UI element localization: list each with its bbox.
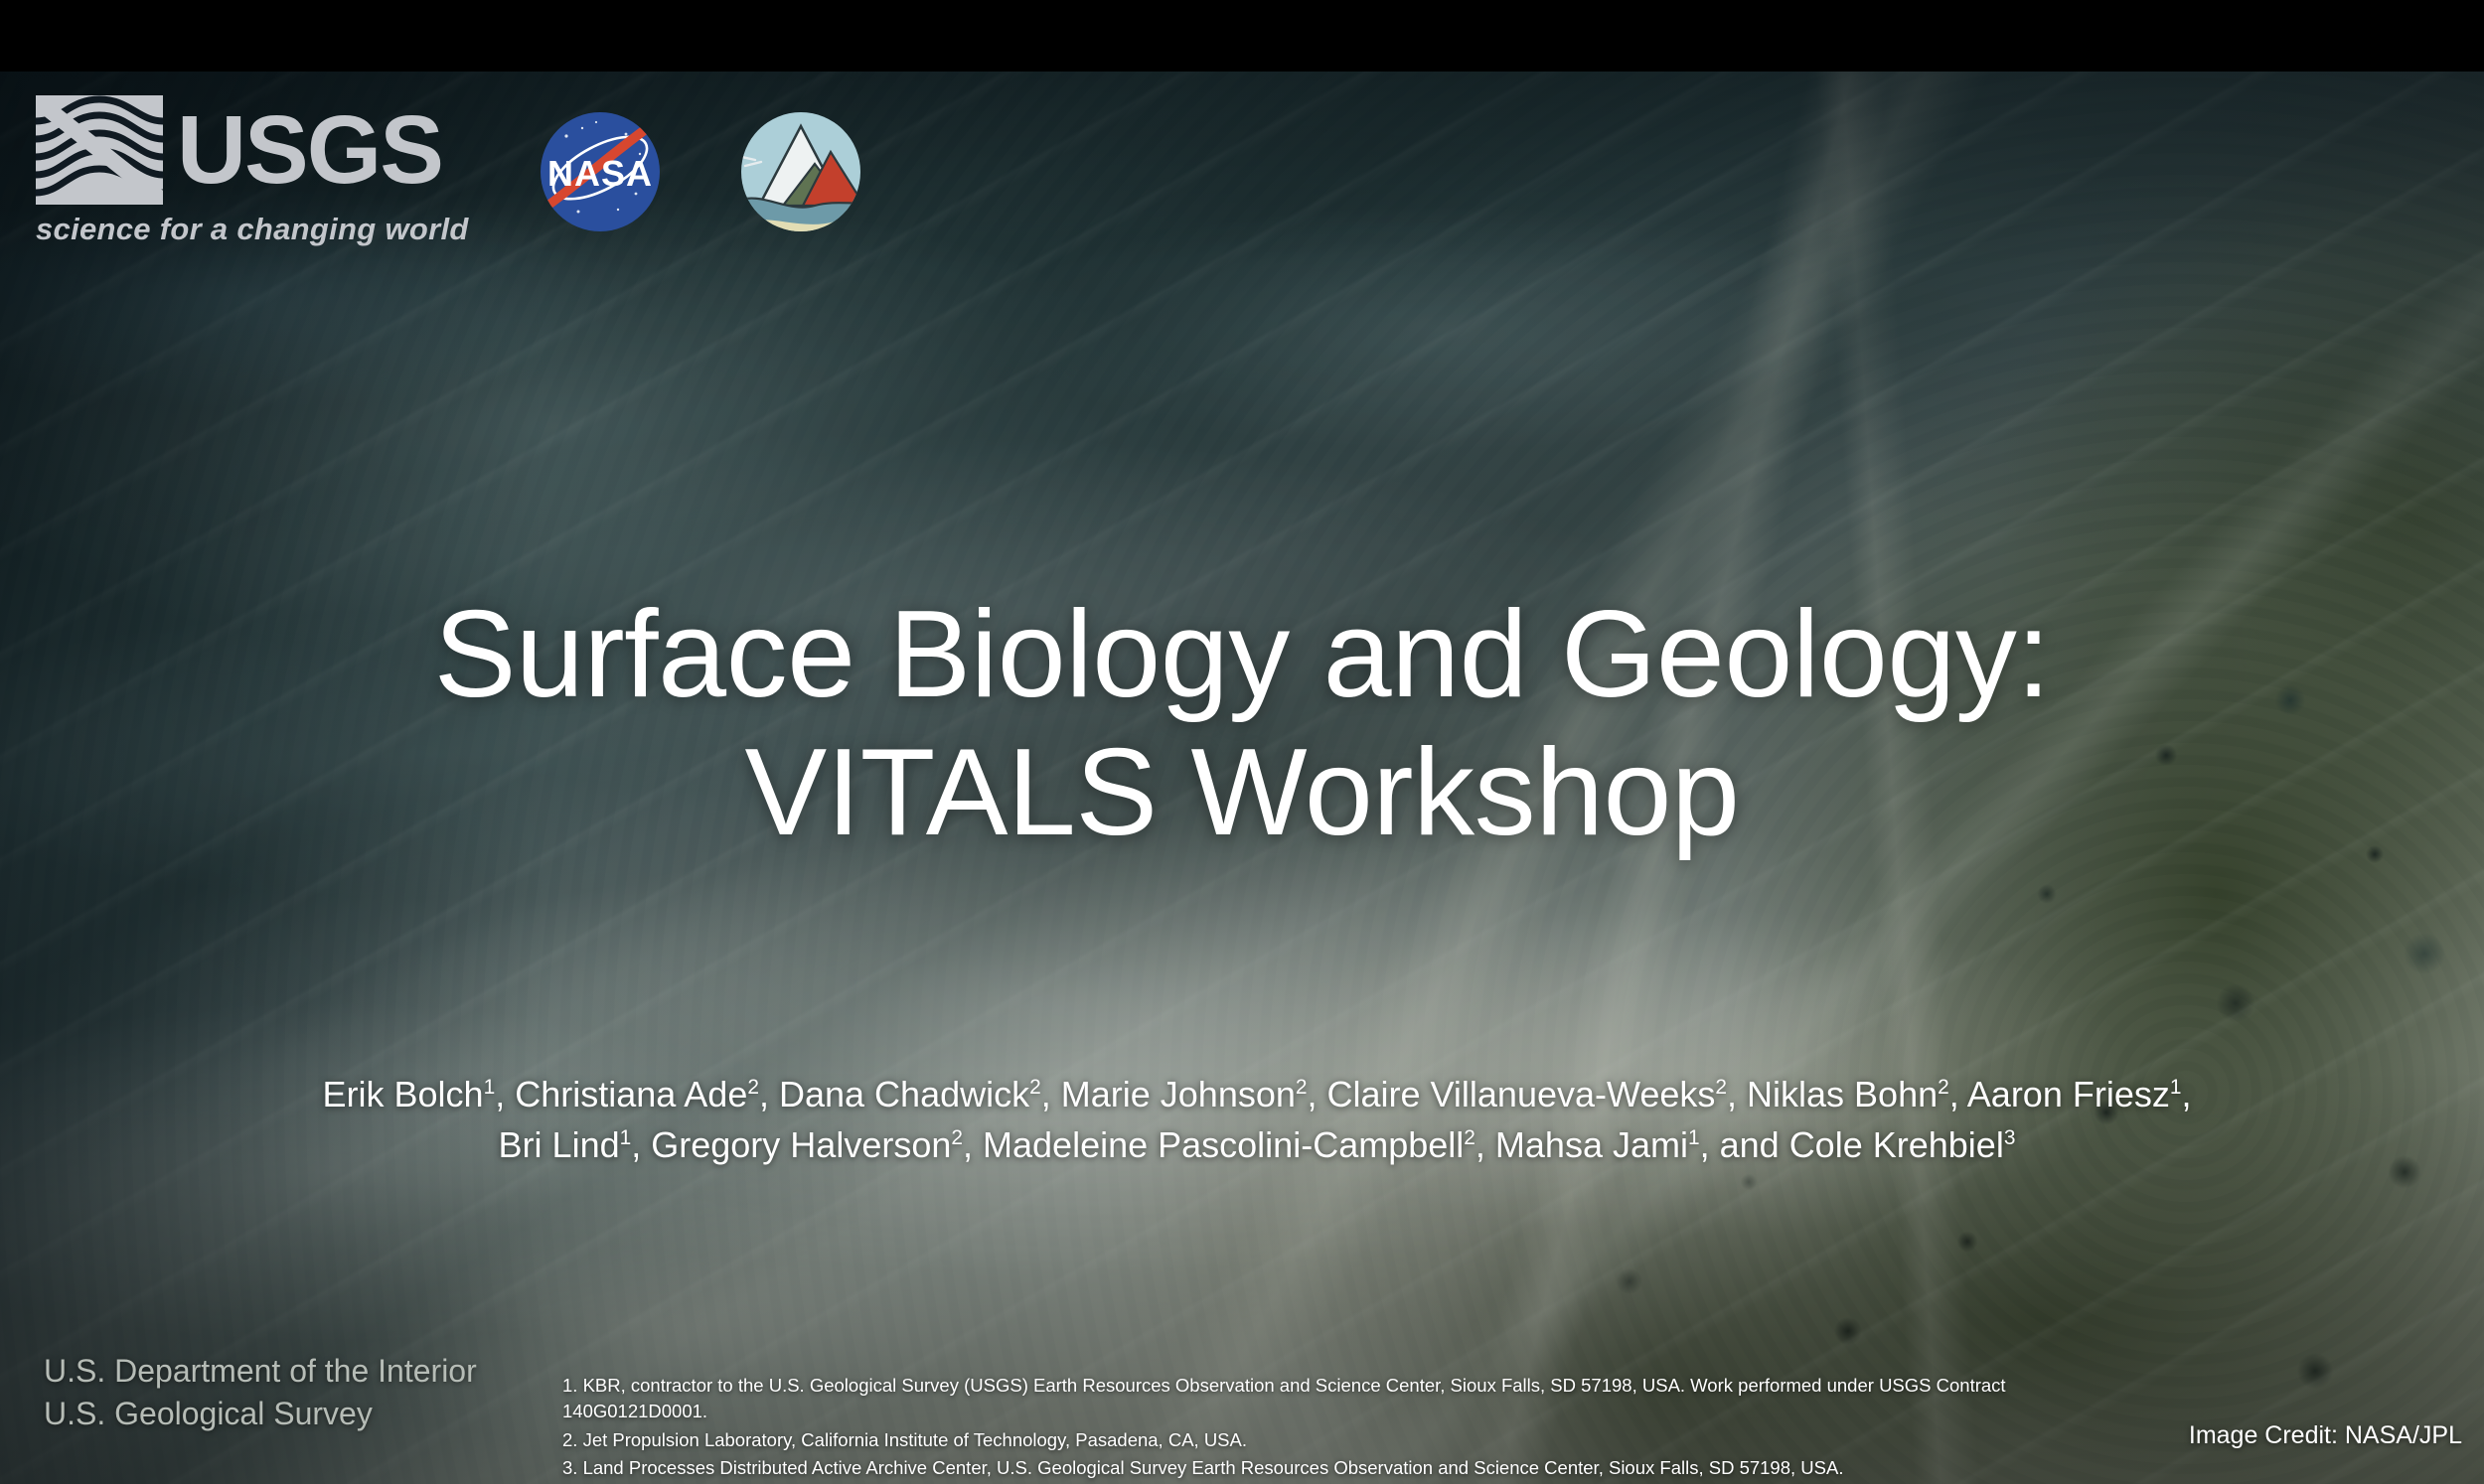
author-affiliation-marker: 2 bbox=[1029, 1076, 1041, 1099]
nasa-logo-icon: NASA bbox=[531, 102, 670, 241]
author-name: Erik Bolch bbox=[323, 1074, 484, 1114]
author-affiliation-marker: 1 bbox=[620, 1126, 632, 1149]
author-name: Gregory Halverson bbox=[651, 1124, 951, 1165]
title-line-1: Surface Biology and Geology: bbox=[0, 586, 2484, 724]
author-name: Cole Krehbiel bbox=[1789, 1124, 2004, 1165]
author-list: Erik Bolch1, Christiana Ade2, Dana Chadw… bbox=[298, 1069, 2216, 1170]
usgs-logo-top: USGS bbox=[36, 95, 469, 205]
author-name: Mahsa Jami bbox=[1495, 1124, 1688, 1165]
sbg-logo-icon bbox=[731, 102, 870, 241]
letterbox-bar-top bbox=[0, 0, 2484, 72]
author-affiliation-marker: 1 bbox=[484, 1076, 496, 1099]
author-name: Christiana Ade bbox=[515, 1074, 747, 1114]
author-name: Bri Lind bbox=[499, 1124, 620, 1165]
agency-line-2: U.S. Geological Survey bbox=[44, 1393, 477, 1436]
footnote-2: 2. Jet Propulsion Laboratory, California… bbox=[562, 1427, 2053, 1454]
footnote-1: 1. KBR, contractor to the U.S. Geologica… bbox=[562, 1373, 2053, 1425]
title-slide: USGS science for a changing world NASA bbox=[0, 0, 2484, 1484]
usgs-wordmark: USGS bbox=[177, 110, 442, 190]
usgs-logo: USGS science for a changing world bbox=[36, 95, 469, 247]
svg-text:NASA: NASA bbox=[547, 153, 653, 194]
author-affiliation-marker: 2 bbox=[1938, 1076, 1949, 1099]
author-affiliation-marker: 2 bbox=[951, 1126, 963, 1149]
author-name: Dana Chadwick bbox=[779, 1074, 1029, 1114]
slide-title: Surface Biology and Geology: VITALS Work… bbox=[0, 586, 2484, 862]
author-affiliation-marker: 1 bbox=[2170, 1076, 2182, 1099]
image-credit: Image Credit: NASA/JPL bbox=[2189, 1421, 2462, 1450]
title-line-2: VITALS Workshop bbox=[0, 724, 2484, 862]
author-affiliation-marker: 3 bbox=[2004, 1126, 2016, 1149]
author-affiliation-marker: 2 bbox=[1296, 1076, 1308, 1099]
agency-block: U.S. Department of the Interior U.S. Geo… bbox=[44, 1350, 477, 1436]
author-affiliation-marker: 2 bbox=[1464, 1126, 1475, 1149]
author-name: Claire Villanueva-Weeks bbox=[1327, 1074, 1716, 1114]
usgs-wave-mark-icon bbox=[36, 95, 163, 205]
usgs-tagline: science for a changing world bbox=[36, 212, 469, 247]
logo-row: USGS science for a changing world NASA bbox=[36, 95, 870, 247]
author-name: Niklas Bohn bbox=[1747, 1074, 1938, 1114]
author-name: Marie Johnson bbox=[1061, 1074, 1296, 1114]
author-name: Madeleine Pascolini-Campbell bbox=[983, 1124, 1464, 1165]
author-affiliation-marker: 2 bbox=[1715, 1076, 1727, 1099]
footnote-block: 1. KBR, contractor to the U.S. Geologica… bbox=[562, 1373, 2053, 1484]
agency-line-1: U.S. Department of the Interior bbox=[44, 1350, 477, 1394]
footnote-3: 3. Land Processes Distributed Active Arc… bbox=[562, 1455, 2053, 1482]
author-affiliation-marker: 1 bbox=[1688, 1126, 1700, 1149]
author-affiliation-marker: 2 bbox=[747, 1076, 759, 1099]
author-name: Aaron Friesz bbox=[1967, 1074, 2170, 1114]
